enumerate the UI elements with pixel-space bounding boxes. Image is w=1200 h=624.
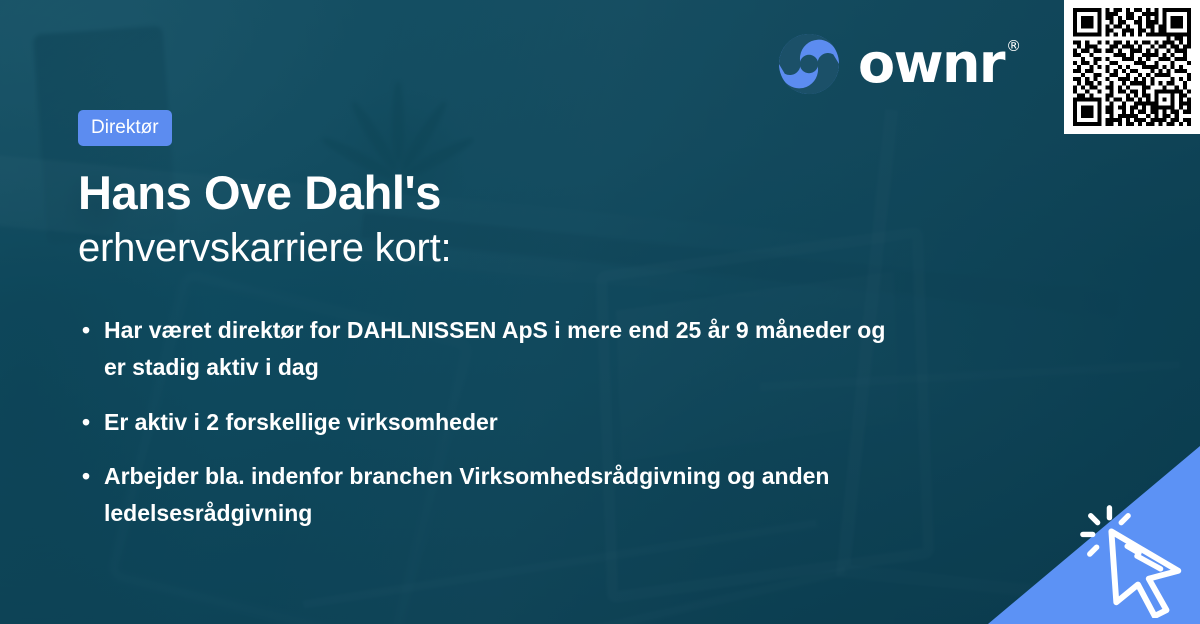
list-item: Er aktiv i 2 forskellige virksomheder — [78, 404, 908, 441]
click-cursor-icon — [1076, 500, 1194, 618]
page-subtitle: erhvervskarriere kort: — [78, 226, 978, 271]
career-card: ownr® Direktør Hans Ove Dahl's erhvervsk… — [0, 0, 1200, 624]
ownr-wordmark-text: ownr — [858, 32, 1004, 95]
registered-trademark-mark: ® — [1006, 39, 1021, 54]
qr-code-image — [1073, 8, 1191, 126]
career-facts-list: Har været direktør for DAHLNISSEN ApS i … — [78, 312, 908, 549]
page-title: Hans Ove Dahl's — [78, 168, 978, 218]
list-item: Har været direktør for DAHLNISSEN ApS i … — [78, 312, 908, 387]
ownr-circle-swirl-icon — [778, 33, 840, 95]
role-badge: Direktør — [78, 110, 172, 146]
headline-block: Direktør Hans Ove Dahl's erhvervskarrier… — [78, 110, 978, 271]
ownr-wordmark: ownr® — [858, 37, 1004, 91]
ownr-logo[interactable]: ownr® — [778, 33, 1004, 95]
list-item: Arbejder bla. indenfor branchen Virksomh… — [78, 458, 908, 533]
qr-code[interactable] — [1064, 0, 1200, 134]
